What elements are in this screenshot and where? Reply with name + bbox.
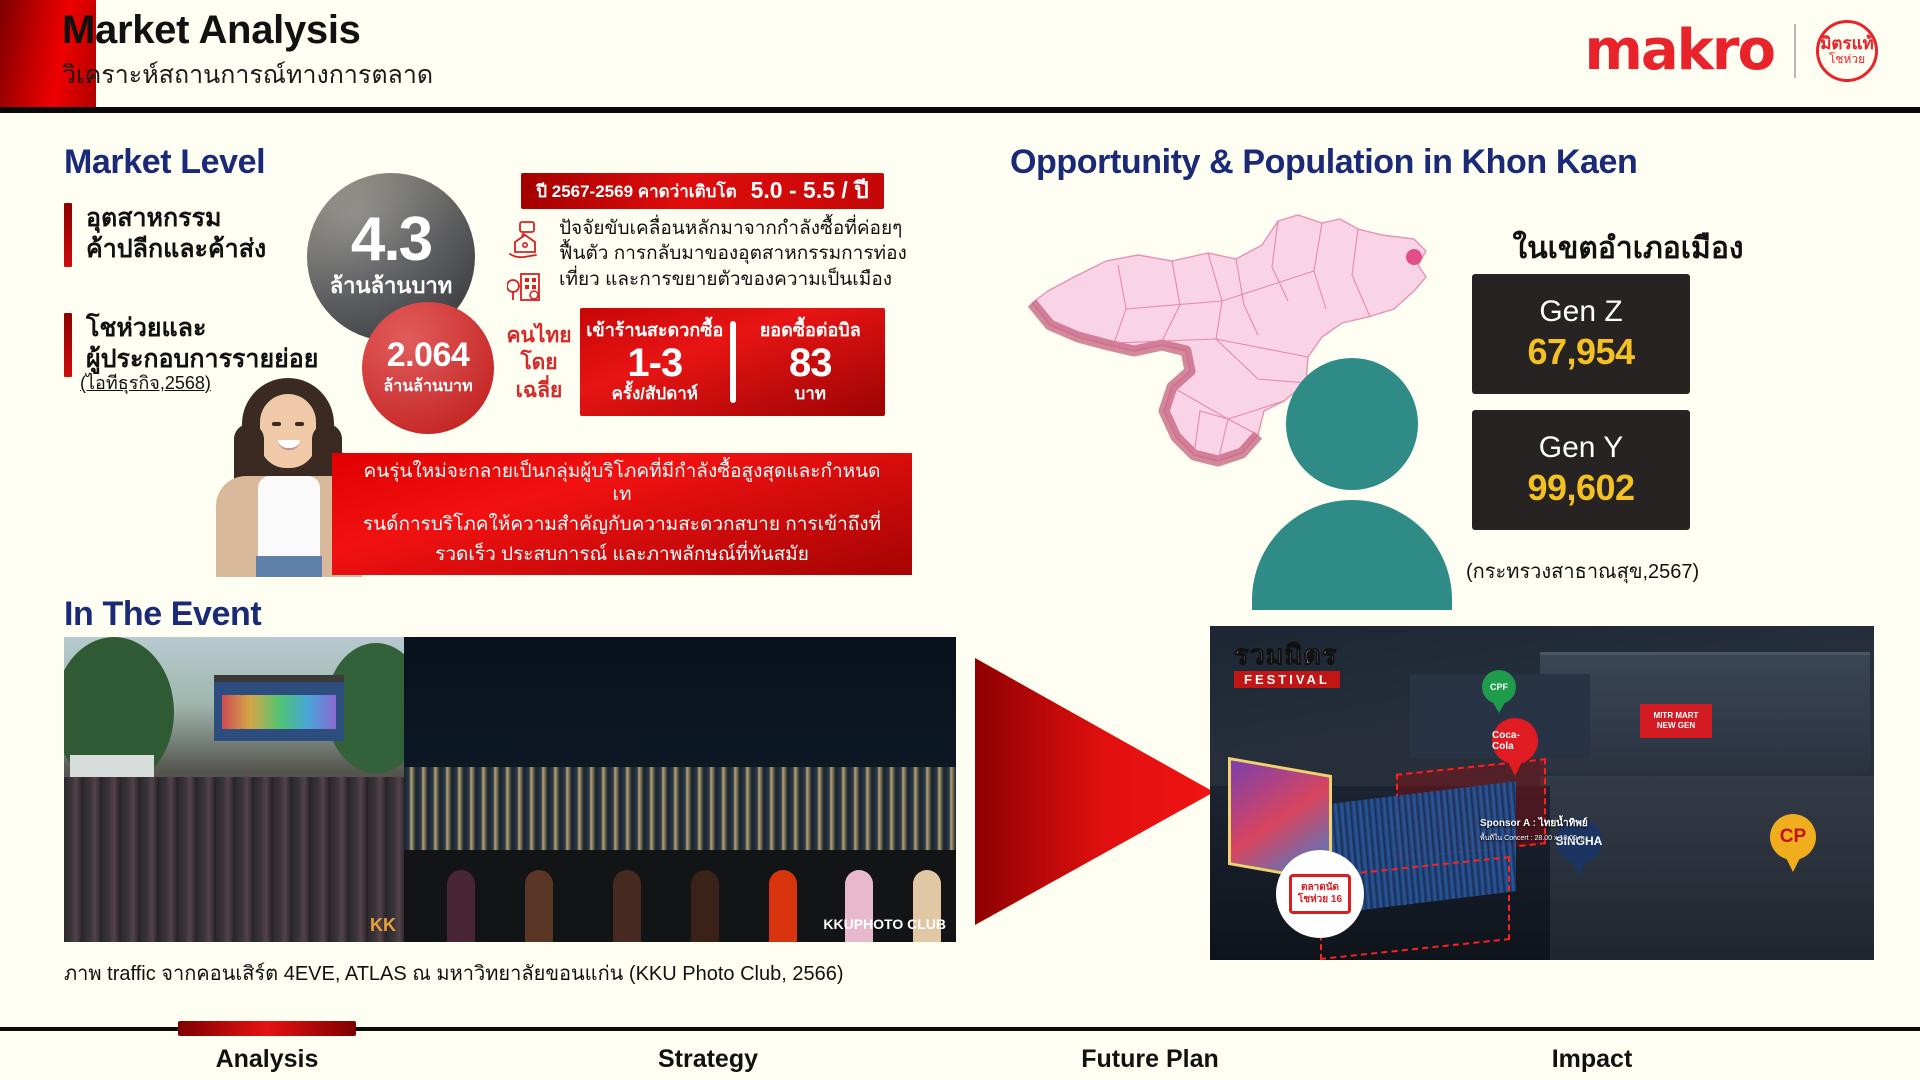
tab-strategy[interactable]: Strategy [578,1045,838,1074]
sponsor-a-subtitle: พื้นที่ใน Concert : 28.00 x 18.00 m. [1480,833,1588,844]
bullet-bar-icon [64,313,72,377]
thai-average-label: คนไทย โดยเฉลี่ย [500,322,578,404]
gen-z-card: Gen Z 67,954 [1472,274,1690,394]
mitrtae-badge-icon: มิตรแท้ โชห่วย [1816,20,1878,82]
person-head-shape [1286,358,1418,490]
stage-led-wall [222,695,336,729]
crowd-shape [64,777,404,942]
person-body-shape [1252,500,1452,610]
growth-driver-text: ปัจจัยขับเคลื่อนหลักมาจากกำลังซื้อที่ค่อ… [559,216,907,306]
stat-unit: ครั้ง/สัปดาห์ [612,385,699,404]
circle-big-number: 4.3 [351,211,431,270]
stat-number: 1-3 [627,343,682,383]
pin-tip [1784,854,1802,872]
tab-impact[interactable]: Impact [1462,1045,1722,1074]
cpf-map-pin-icon: CPF [1482,670,1516,714]
market-zone-badge: ตลาดนัด โชห่วย 16 [1276,850,1364,938]
market-bullet-retail: อุตสาหกรรม ค้าปลีกและค้าส่ง [64,203,266,267]
circle-small-unit: ล้านล้านบาท [383,374,472,399]
bullet-bar-icon [64,203,72,267]
photo-watermark: KKUPHOTO CLUB [823,916,946,932]
makro-wordmark: makro [1585,23,1774,79]
population-source-citation: (กระทรวงสาธาณสุข,2567) [1466,555,1699,587]
event-photo-crowd: KK [64,637,404,942]
audience-lights-shape [404,767,956,862]
market-zone-line1: ตลาดนัด [1301,882,1339,894]
event-photo-performers: KKUPHOTO CLUB [404,637,956,942]
page-subtitle: วิเคราะห์สถานการณ์ทางการตลาด [62,55,433,95]
badge-line2: โชห่วย [1829,53,1865,66]
market-zone-inner: ตลาดนัด โชห่วย 16 [1289,874,1351,914]
insight-line-1: คนรุ่นใหม่จะกลายเป็นกลุ่มผู้บริโภคที่มีก… [356,461,888,507]
tab-future-plan[interactable]: Future Plan [1020,1045,1280,1074]
in-the-event-heading: In The Event [64,595,261,634]
event-photo-caption: ภาพ traffic จากคอนเสิร์ต 4EVE, ATLAS ณ ม… [64,957,843,989]
festival-logo-line2: FESTIVAL [1234,671,1340,688]
market-source-citation: (ไอทีธุรกิจ,2568) [80,368,211,397]
consumer-stats-box: เข้าร้านสะดวกซื้อ 1-3 ครั้ง/สัปดาห์ ยอดซ… [580,308,885,416]
hand-holding-shop-icon [507,220,547,260]
eye-left [272,422,281,426]
mitr-mart-line1: MITR MART [1654,711,1699,721]
gen-z-label: Gen Z [1539,295,1622,329]
gen-y-card: Gen Y 99,602 [1472,410,1690,530]
tab-analysis[interactable]: Analysis [137,1045,397,1074]
circle-small-number: 2.064 [387,338,470,372]
jeans-shape [256,556,322,577]
stat-unit: บาท [794,385,826,404]
circle-big-unit: ล้านล้านบาท [330,268,453,303]
opportunity-heading: Opportunity & Population in Khon Kaen [1010,143,1637,182]
pin-tip [1570,858,1588,876]
consumer-insight-box: คนรุ่นใหม่จะกลายเป็นกลุ่มผู้บริโภคที่มีก… [332,453,912,575]
growth-drivers-block: ปัจจัยขับเคลื่อนหลักมาจากกำลังซื้อที่ค่อ… [507,216,907,306]
insight-line-2: รนด์การบริโภคให้ความสำคัญกับความสะดวกสบา… [363,514,881,537]
population-person-icon [1240,358,1465,583]
sponsor-a-caption: Sponsor A : ไทยน้ำทิพย์ พื้นที่ใน Concer… [1480,816,1588,844]
page-title: Market Analysis [62,8,361,53]
district-title: ในเขตอำเภอเมือง [1438,225,1818,272]
stat-basket-size: ยอดซื้อต่อบิล 83 บาท [736,308,886,416]
sponsor-a-title: Sponsor A : ไทยน้ำทิพย์ [1480,818,1588,829]
driver-icon-group [507,216,547,306]
mitr-mart-badge: MITR MART NEW GEN [1640,704,1712,738]
festival-venue-render: รวมมิตร FESTIVAL CPF Coca-Cola CP SINGHA… [1210,626,1874,960]
shirt-shape [258,476,320,558]
market-level-heading: Market Level [64,143,265,182]
pin-tip [1506,758,1524,776]
eye-right [295,422,304,426]
cp-map-pin-icon: CP [1770,814,1816,872]
gen-z-value: 67,954 [1527,331,1634,373]
page-header: Market Analysis วิเคราะห์สถานการณ์ทางการ… [0,0,1920,112]
growth-value: 5.0 - 5.5 / ปี [751,173,869,209]
pin-tip [1491,699,1507,713]
stat-number: 83 [789,343,832,383]
market-zone-line2: โชห่วย 16 [1298,894,1342,906]
brand-logo: makro มิตรแท้ โชห่วย [1585,14,1878,88]
photo-watermark: KK [370,915,396,936]
header-divider [0,107,1920,113]
market-bullet-retail-label: อุตสาหกรรม ค้าปลีกและค้าส่ง [86,203,266,267]
growth-label: ปี 2567-2569 คาดว่าเติบโต [536,178,736,205]
stat-circle-sme-value: 2.064 ล้านล้านบาท [362,302,494,434]
mitr-mart-line2: NEW GEN [1657,721,1695,731]
stat-visit-frequency: เข้าร้านสะดวกซื้อ 1-3 ครั้ง/สัปดาห์ [580,308,730,416]
face-shape [260,394,316,468]
city-building-icon [507,266,547,306]
brand-divider [1794,24,1796,78]
badge-line1: มิตรแท้ [1820,35,1874,52]
growth-forecast-banner: ปี 2567-2569 คาดว่าเติบโต 5.0 - 5.5 / ปี [521,173,884,209]
red-arrow-icon [970,640,1220,940]
footer-active-indicator [178,1021,356,1036]
gen-y-label: Gen Y [1539,431,1624,465]
gen-y-value: 99,602 [1527,467,1634,509]
cocacola-map-pin-icon: Coca-Cola [1492,718,1538,776]
stat-title: เข้าร้านสะดวกซื้อ [586,321,723,341]
stat-title: ยอดซื้อต่อบิล [760,321,861,341]
festival-logo: รวมมิตร FESTIVAL [1234,642,1374,689]
insight-line-3: รวดเร็ว ประสบการณ์ และภาพลักษณ์ที่ทันสมั… [435,544,809,567]
festival-logo-line1: รวมมิตร [1234,642,1374,669]
